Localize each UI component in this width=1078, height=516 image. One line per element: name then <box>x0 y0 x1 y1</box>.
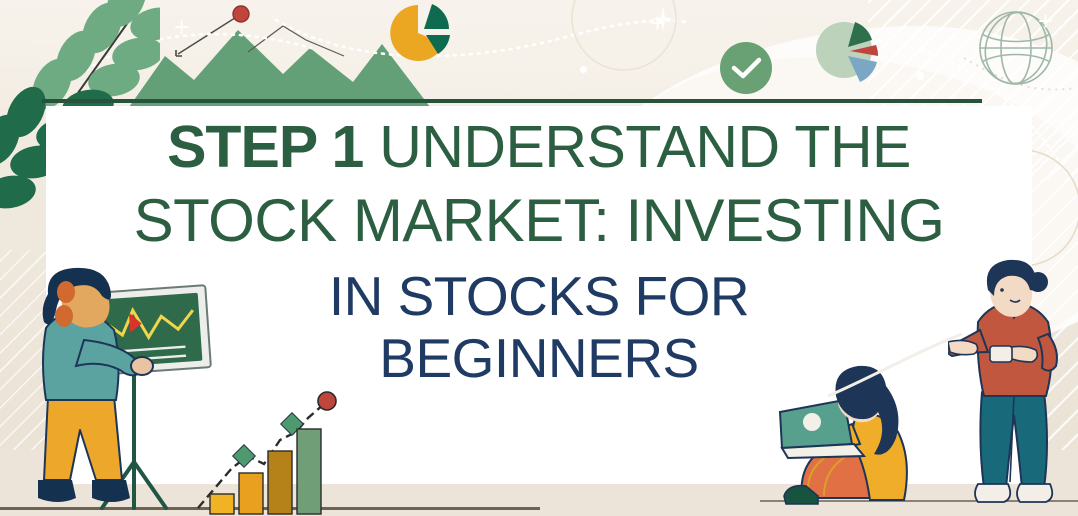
headline-line-2: STOCK MARKET: INVESTING <box>46 193 1032 249</box>
step-label: STEP 1 <box>167 114 363 180</box>
check-circle-icon <box>716 38 776 98</box>
standing-presenter-illustration <box>948 256 1076 506</box>
subtitle-line-1: IN STOCKS FOR <box>329 265 749 327</box>
dot-decoration-1 <box>580 66 587 73</box>
infographic-canvas: + + + + STEP 1 UNDERSTAND THE STOCK MARK… <box>0 0 1078 516</box>
pie-chart-multicolor-icon <box>812 18 890 88</box>
dot-decoration-2 <box>916 72 924 80</box>
sparkle-icon-1 <box>652 6 674 32</box>
gesture-connector-line <box>826 330 966 400</box>
plus-decoration-3: + <box>1038 8 1053 34</box>
plus-decoration-1: + <box>174 14 189 40</box>
bar-chart-growth-icon <box>196 382 346 516</box>
card-top-rule <box>42 99 982 103</box>
pie-chart-orange-icon <box>388 2 452 64</box>
person-at-easel-illustration <box>18 266 218 516</box>
headline-line-1: STEP 1 UNDERSTAND THE <box>46 120 1032 175</box>
headline-line-1-rest: UNDERSTAND THE <box>363 114 911 180</box>
